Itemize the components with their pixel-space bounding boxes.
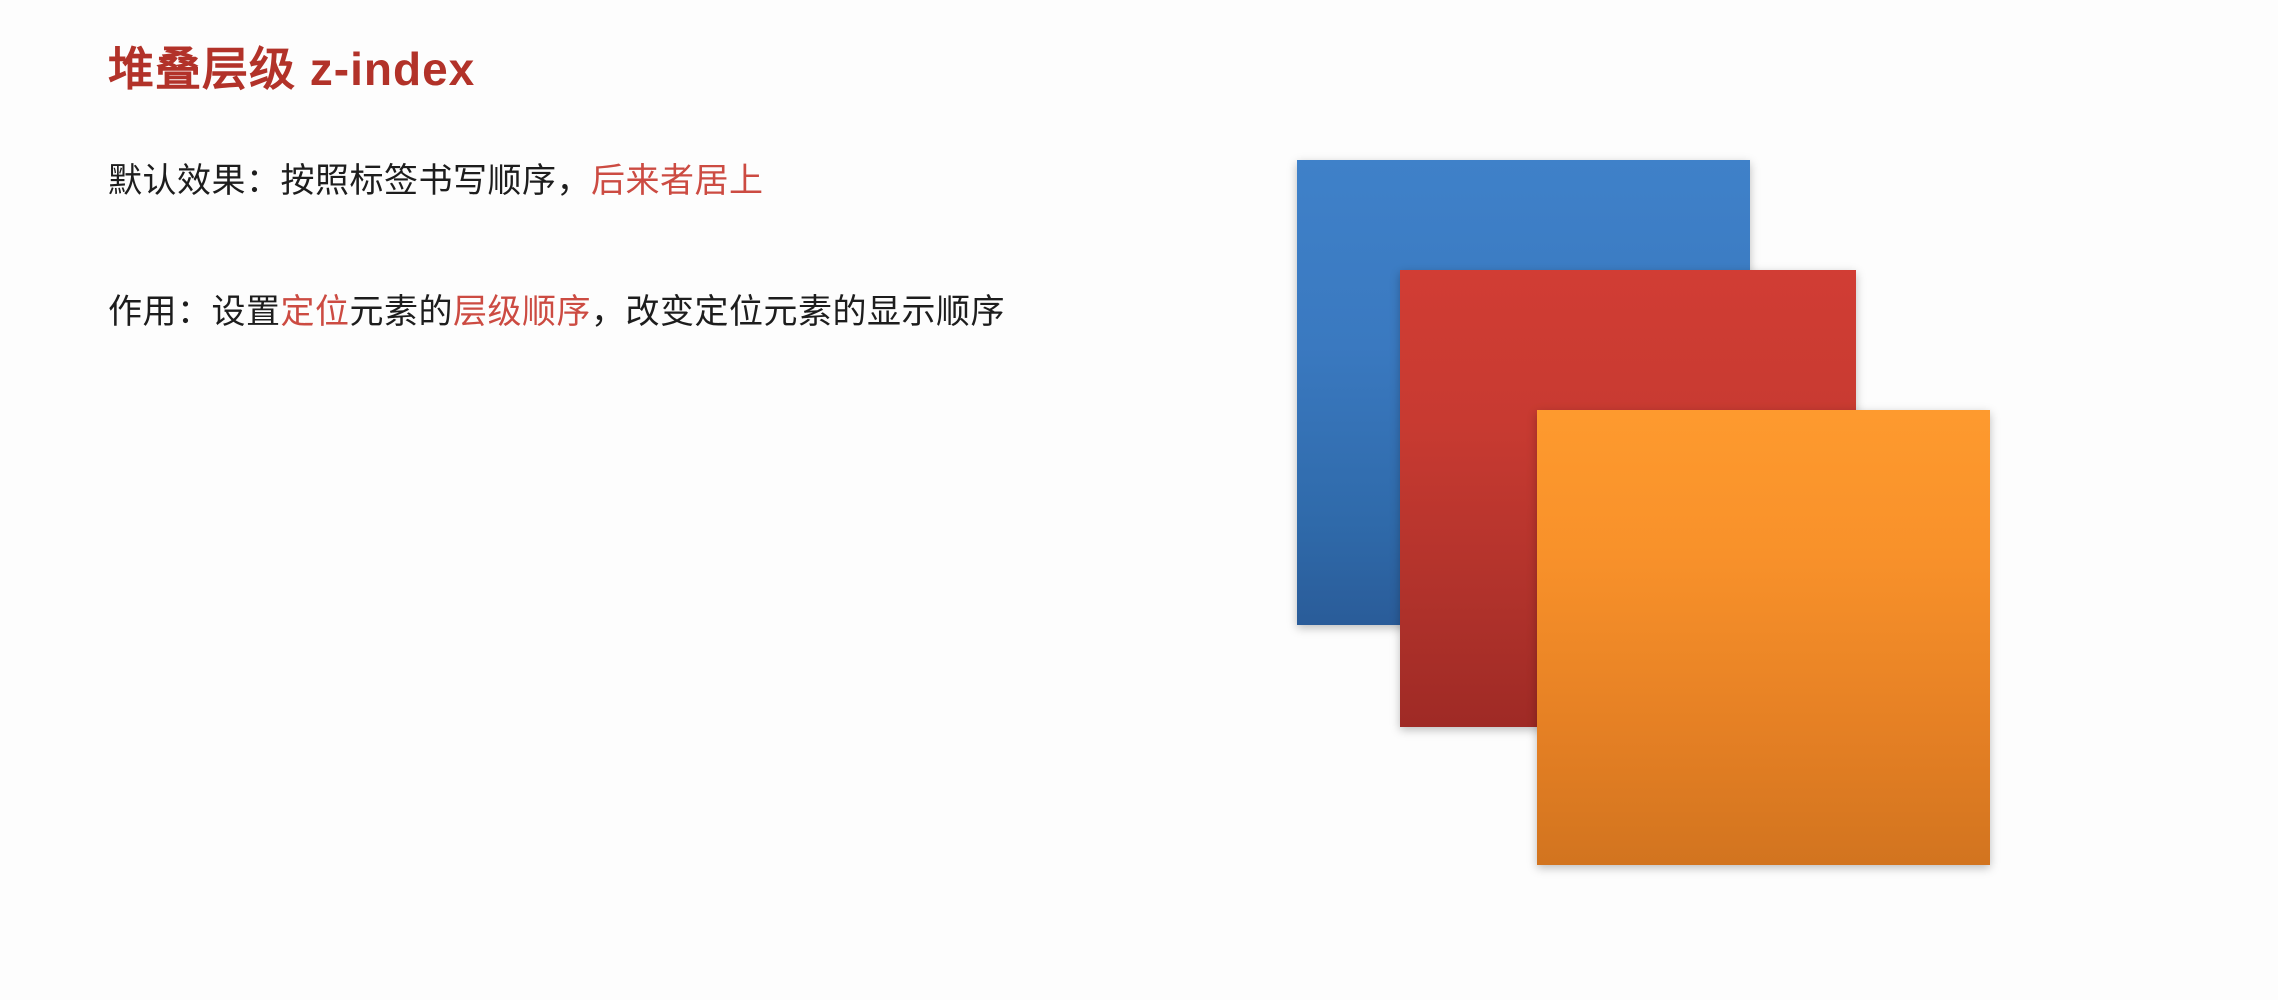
text-content-column: 堆叠层级 z-index 默认效果：按照标签书写顺序，后来者居上 作用：设置定位… [108, 30, 1228, 336]
slide-canvas: 堆叠层级 z-index 默认效果：按照标签书写顺序，后来者居上 作用：设置定位… [0, 0, 2278, 1000]
page-title: 堆叠层级 z-index [108, 30, 1228, 97]
text-segment: 元素的 [350, 293, 454, 331]
text-segment-emphasis: 定位 [281, 293, 350, 331]
body-line-default-behavior: 默认效果：按照标签书写顺序，后来者居上 [108, 159, 1228, 205]
z-index-illustration [1290, 150, 2010, 890]
text-segment: 默认效果：按照标签书写顺序， [108, 162, 591, 200]
text-segment: 作用：设置 [108, 293, 281, 331]
text-segment-emphasis: 后来者居上 [591, 162, 764, 200]
orange-square-layer [1537, 410, 1990, 865]
text-segment-emphasis: 层级顺序 [453, 293, 591, 331]
body-line-purpose: 作用：设置定位元素的层级顺序，改变定位元素的显示顺序 [108, 290, 1228, 336]
text-segment: ，改变定位元素的显示顺序 [591, 293, 1005, 331]
